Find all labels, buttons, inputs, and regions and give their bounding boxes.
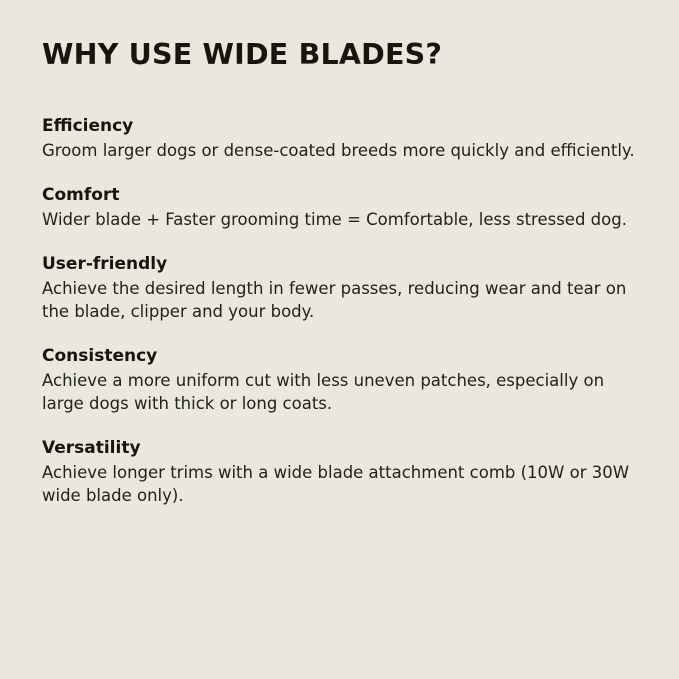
feature-heading: Versatility <box>42 438 637 459</box>
feature-heading: Efficiency <box>42 116 637 137</box>
feature-heading: User-friendly <box>42 254 637 275</box>
feature-heading: Comfort <box>42 185 637 206</box>
feature-body: Groom larger dogs or dense-coated breeds… <box>42 139 637 162</box>
feature-item-efficiency: Efficiency Groom larger dogs or dense-co… <box>42 116 637 163</box>
feature-list: Efficiency Groom larger dogs or dense-co… <box>42 116 637 508</box>
feature-body: Achieve a more uniform cut with less une… <box>42 369 637 416</box>
feature-item-versatility: Versatility Achieve longer trims with a … <box>42 438 637 508</box>
feature-body: Achieve longer trims with a wide blade a… <box>42 461 637 508</box>
feature-heading: Consistency <box>42 346 637 367</box>
info-panel: WHY USE WIDE BLADES? Efficiency Groom la… <box>0 0 679 679</box>
page-title: WHY USE WIDE BLADES? <box>42 38 637 72</box>
feature-body: Wider blade + Faster grooming time = Com… <box>42 208 637 231</box>
feature-item-comfort: Comfort Wider blade + Faster grooming ti… <box>42 185 637 232</box>
feature-body: Achieve the desired length in fewer pass… <box>42 277 637 324</box>
feature-item-consistency: Consistency Achieve a more uniform cut w… <box>42 346 637 416</box>
feature-item-user-friendly: User-friendly Achieve the desired length… <box>42 254 637 324</box>
